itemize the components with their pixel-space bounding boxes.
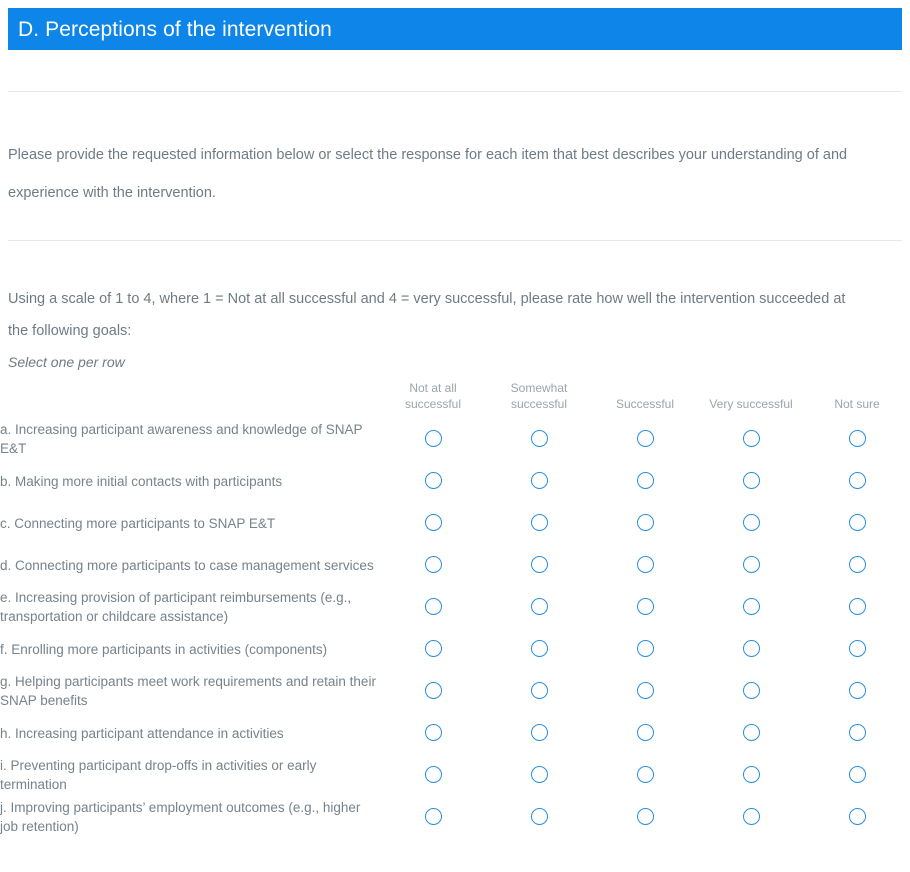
- cell-i-0[interactable]: [380, 754, 486, 796]
- cell-d-3[interactable]: [698, 544, 804, 586]
- table-row: h. Increasing participant attendance in …: [0, 712, 910, 754]
- column-header-1: Somewhat successful: [486, 380, 592, 418]
- column-header-4: Not sure: [804, 380, 910, 418]
- cell-c-3[interactable]: [698, 502, 804, 544]
- radio-j-somewhat-successful[interactable]: [531, 808, 548, 825]
- divider-top: [8, 91, 902, 92]
- radio-e-not-at-all-successful[interactable]: [425, 598, 442, 615]
- matrix-header-row: Not at all successful Somewhat successfu…: [0, 380, 910, 418]
- cell-c-1[interactable]: [486, 502, 592, 544]
- radio-a-successful[interactable]: [637, 430, 654, 447]
- cell-j-4[interactable]: [804, 796, 910, 838]
- radio-c-not-sure[interactable]: [849, 514, 866, 531]
- cell-i-1[interactable]: [486, 754, 592, 796]
- cell-h-3[interactable]: [698, 712, 804, 754]
- radio-h-somewhat-successful[interactable]: [531, 724, 548, 741]
- cell-e-4[interactable]: [804, 586, 910, 628]
- question-hint: Select one per row: [8, 352, 868, 372]
- radio-g-very-successful[interactable]: [743, 682, 760, 699]
- radio-h-very-successful[interactable]: [743, 724, 760, 741]
- table-row: c. Connecting more participants to SNAP …: [0, 502, 910, 544]
- cell-d-2[interactable]: [592, 544, 698, 586]
- radio-f-not-sure[interactable]: [849, 640, 866, 657]
- radio-d-successful[interactable]: [637, 556, 654, 573]
- table-row: g. Helping participants meet work requir…: [0, 670, 910, 712]
- table-row: a. Increasing participant awareness and …: [0, 418, 910, 460]
- table-row: f. Enrolling more participants in activi…: [0, 628, 910, 670]
- cell-b-2[interactable]: [592, 460, 698, 502]
- cell-g-2[interactable]: [592, 670, 698, 712]
- row-label-b: b. Making more initial contacts with par…: [0, 460, 380, 502]
- cell-a-3[interactable]: [698, 418, 804, 460]
- cell-i-3[interactable]: [698, 754, 804, 796]
- cell-f-1[interactable]: [486, 628, 592, 670]
- table-row: e. Increasing provision of participant r…: [0, 586, 910, 628]
- radio-h-not-at-all-successful[interactable]: [425, 724, 442, 741]
- radio-d-not-at-all-successful[interactable]: [425, 556, 442, 573]
- radio-g-not-at-all-successful[interactable]: [425, 682, 442, 699]
- cell-i-4[interactable]: [804, 754, 910, 796]
- row-label-g: g. Helping participants meet work requir…: [0, 670, 380, 712]
- radio-g-successful[interactable]: [637, 682, 654, 699]
- radio-e-successful[interactable]: [637, 598, 654, 615]
- radio-f-very-successful[interactable]: [743, 640, 760, 657]
- question-prompt-block: Using a scale of 1 to 4, where 1 = Not a…: [8, 283, 868, 372]
- cell-g-3[interactable]: [698, 670, 804, 712]
- radio-a-somewhat-successful[interactable]: [531, 430, 548, 447]
- row-label-j: j. Improving participants’ employment ou…: [0, 796, 380, 838]
- radio-a-not-sure[interactable]: [849, 430, 866, 447]
- radio-b-successful[interactable]: [637, 472, 654, 489]
- cell-b-4[interactable]: [804, 460, 910, 502]
- radio-d-somewhat-successful[interactable]: [531, 556, 548, 573]
- cell-c-4[interactable]: [804, 502, 910, 544]
- radio-f-somewhat-successful[interactable]: [531, 640, 548, 657]
- cell-h-2[interactable]: [592, 712, 698, 754]
- radio-e-somewhat-successful[interactable]: [531, 598, 548, 615]
- cell-h-4[interactable]: [804, 712, 910, 754]
- radio-h-not-sure[interactable]: [849, 724, 866, 741]
- table-row: d. Connecting more participants to case …: [0, 544, 910, 586]
- survey-page: D. Perceptions of the intervention Pleas…: [0, 0, 910, 872]
- matrix-body: a. Increasing participant awareness and …: [0, 418, 910, 838]
- rating-matrix-table: Not at all successful Somewhat successfu…: [0, 380, 910, 838]
- cell-f-4[interactable]: [804, 628, 910, 670]
- cell-g-4[interactable]: [804, 670, 910, 712]
- radio-j-successful[interactable]: [637, 808, 654, 825]
- radio-a-very-successful[interactable]: [743, 430, 760, 447]
- column-header-3: Very successful: [698, 380, 804, 418]
- row-label-c: c. Connecting more participants to SNAP …: [0, 502, 380, 544]
- cell-j-2[interactable]: [592, 796, 698, 838]
- radio-j-not-at-all-successful[interactable]: [425, 808, 442, 825]
- cell-e-2[interactable]: [592, 586, 698, 628]
- radio-d-very-successful[interactable]: [743, 556, 760, 573]
- cell-d-4[interactable]: [804, 544, 910, 586]
- divider-middle: [8, 240, 902, 241]
- cell-j-3[interactable]: [698, 796, 804, 838]
- cell-b-3[interactable]: [698, 460, 804, 502]
- radio-b-not-at-all-successful[interactable]: [425, 472, 442, 489]
- radio-e-not-sure[interactable]: [849, 598, 866, 615]
- cell-a-1[interactable]: [486, 418, 592, 460]
- cell-d-1[interactable]: [486, 544, 592, 586]
- row-label-d: d. Connecting more participants to case …: [0, 544, 380, 586]
- row-label-a: a. Increasing participant awareness and …: [0, 418, 380, 460]
- cell-f-0[interactable]: [380, 628, 486, 670]
- table-row: b. Making more initial contacts with par…: [0, 460, 910, 502]
- table-row: j. Improving participants’ employment ou…: [0, 796, 910, 838]
- radio-c-not-at-all-successful[interactable]: [425, 514, 442, 531]
- cell-j-0[interactable]: [380, 796, 486, 838]
- cell-d-0[interactable]: [380, 544, 486, 586]
- radio-i-very-successful[interactable]: [743, 766, 760, 783]
- cell-a-4[interactable]: [804, 418, 910, 460]
- rating-matrix: Not at all successful Somewhat successfu…: [0, 380, 910, 838]
- cell-e-3[interactable]: [698, 586, 804, 628]
- cell-j-1[interactable]: [486, 796, 592, 838]
- radio-e-very-successful[interactable]: [743, 598, 760, 615]
- row-label-h: h. Increasing participant attendance in …: [0, 712, 380, 754]
- radio-c-very-successful[interactable]: [743, 514, 760, 531]
- radio-f-successful[interactable]: [637, 640, 654, 657]
- radio-j-not-sure[interactable]: [849, 808, 866, 825]
- radio-b-very-successful[interactable]: [743, 472, 760, 489]
- radio-h-successful[interactable]: [637, 724, 654, 741]
- cell-a-0[interactable]: [380, 418, 486, 460]
- intro-paragraph: Please provide the requested information…: [8, 136, 868, 212]
- cell-g-1[interactable]: [486, 670, 592, 712]
- radio-g-somewhat-successful[interactable]: [531, 682, 548, 699]
- cell-c-0[interactable]: [380, 502, 486, 544]
- radio-g-not-sure[interactable]: [849, 682, 866, 699]
- section-header-banner: D. Perceptions of the intervention: [8, 8, 902, 50]
- row-label-f: f. Enrolling more participants in activi…: [0, 628, 380, 670]
- column-header-2: Successful: [592, 380, 698, 418]
- section-title: D. Perceptions of the intervention: [18, 19, 332, 40]
- cell-i-2[interactable]: [592, 754, 698, 796]
- cell-f-3[interactable]: [698, 628, 804, 670]
- cell-e-1[interactable]: [486, 586, 592, 628]
- cell-c-2[interactable]: [592, 502, 698, 544]
- cell-e-0[interactable]: [380, 586, 486, 628]
- question-prompt: Using a scale of 1 to 4, where 1 = Not a…: [8, 283, 868, 347]
- radio-i-not-sure[interactable]: [849, 766, 866, 783]
- radio-i-somewhat-successful[interactable]: [531, 766, 548, 783]
- radio-d-not-sure[interactable]: [849, 556, 866, 573]
- radio-c-successful[interactable]: [637, 514, 654, 531]
- radio-b-not-sure[interactable]: [849, 472, 866, 489]
- row-label-i: i. Preventing participant drop-offs in a…: [0, 754, 380, 796]
- column-header-0: Not at all successful: [380, 380, 486, 418]
- cell-a-2[interactable]: [592, 418, 698, 460]
- cell-f-2[interactable]: [592, 628, 698, 670]
- cell-b-1[interactable]: [486, 460, 592, 502]
- cell-g-0[interactable]: [380, 670, 486, 712]
- matrix-corner-cell: [0, 380, 380, 418]
- radio-c-somewhat-successful[interactable]: [531, 514, 548, 531]
- table-row: i. Preventing participant drop-offs in a…: [0, 754, 910, 796]
- cell-h-1[interactable]: [486, 712, 592, 754]
- radio-f-not-at-all-successful[interactable]: [425, 640, 442, 657]
- radio-a-not-at-all-successful[interactable]: [425, 430, 442, 447]
- radio-i-not-at-all-successful[interactable]: [425, 766, 442, 783]
- radio-i-successful[interactable]: [637, 766, 654, 783]
- cell-b-0[interactable]: [380, 460, 486, 502]
- radio-b-somewhat-successful[interactable]: [531, 472, 548, 489]
- radio-j-very-successful[interactable]: [743, 808, 760, 825]
- cell-h-0[interactable]: [380, 712, 486, 754]
- row-label-e: e. Increasing provision of participant r…: [0, 586, 380, 628]
